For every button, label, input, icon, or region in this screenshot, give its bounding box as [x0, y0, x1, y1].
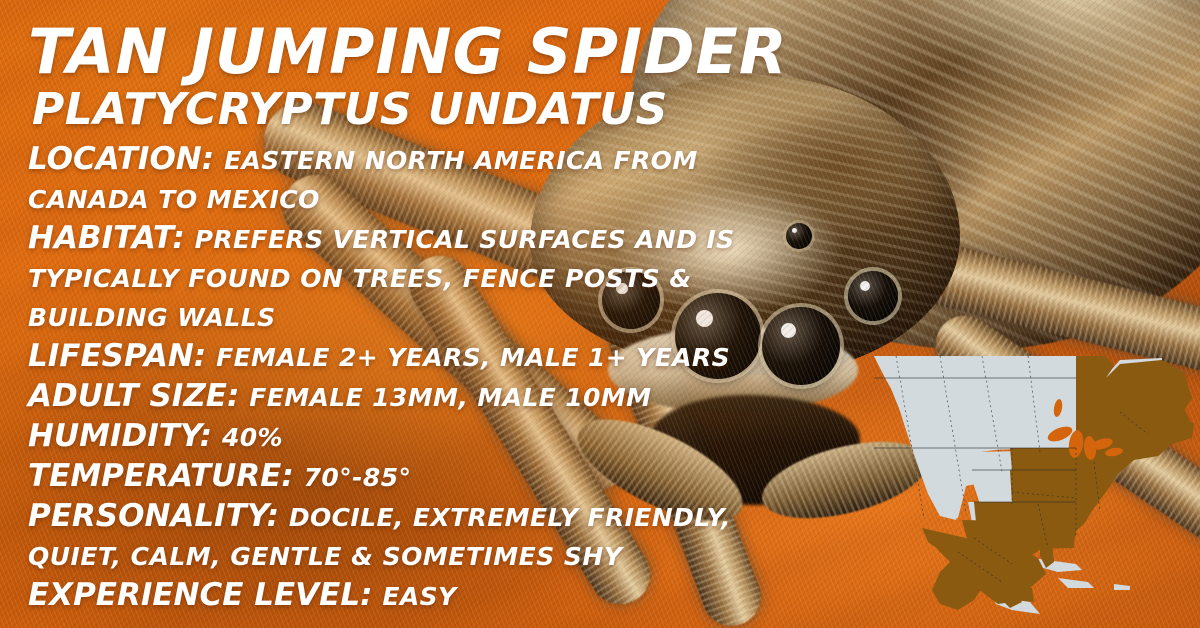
fact-value: docile, extremely friendly,: [289, 503, 731, 532]
card-text: TAN JUMPING SPIDER Platycryptus undatus …: [0, 0, 1200, 628]
fact-value: female 2+ years, male 1+ years: [216, 343, 730, 372]
fact-label: TEMPERATURE:: [28, 458, 294, 494]
fact-continuation: quiet, calm, gentle & sometimes shy: [28, 537, 1200, 576]
fact-continuation: canada to mexico: [28, 180, 1200, 219]
fact-value: prefers vertical surfaces and is: [195, 225, 735, 254]
fact-row-lifespan: LIFESPAN: female 2+ years, male 1+ years: [28, 337, 1200, 377]
fact-row-habitat: HABITAT: prefers vertical surfaces and i…: [28, 219, 1200, 259]
scientific-name: Platycryptus undatus: [32, 86, 1200, 134]
fact-value: 70°-85°: [304, 463, 412, 492]
fact-label: HUMIDITY:: [28, 418, 212, 454]
fact-label: EXPERIENCE LEVEL:: [28, 577, 372, 613]
fact-row-experience-level: EXPERIENCE LEVEL: easy: [28, 576, 1200, 616]
fact-label: HABITAT:: [28, 220, 185, 256]
fact-value: eastern north america from: [224, 146, 698, 175]
fact-row-temperature: TEMPERATURE: 70°-85°: [28, 457, 1200, 497]
fact-label: ADULT SIZE:: [28, 378, 239, 414]
fact-value: female 13mm, male 10mm: [249, 383, 651, 412]
fact-row-personality: PERSONALITY: docile, extremely friendly,: [28, 497, 1200, 537]
fact-label: LIFESPAN:: [28, 338, 206, 374]
fact-continuation: building walls: [28, 298, 1200, 337]
fact-continuation: typically found on trees, fence posts &: [28, 259, 1200, 298]
fact-label: LOCATION:: [28, 141, 214, 177]
fact-value: 40%: [222, 423, 283, 452]
fact-value: easy: [382, 582, 456, 611]
page-title: TAN JUMPING SPIDER: [28, 20, 1200, 84]
fact-label: PERSONALITY:: [28, 498, 279, 534]
fact-list: LOCATION: eastern north america from can…: [28, 140, 1200, 616]
fact-row-adult-size: ADULT SIZE: female 13mm, male 10mm: [28, 377, 1200, 417]
species-care-card: TAN JUMPING SPIDER Platycryptus undatus …: [0, 0, 1200, 628]
fact-row-location: LOCATION: eastern north america from: [28, 140, 1200, 180]
fact-row-humidity: HUMIDITY: 40%: [28, 417, 1200, 457]
